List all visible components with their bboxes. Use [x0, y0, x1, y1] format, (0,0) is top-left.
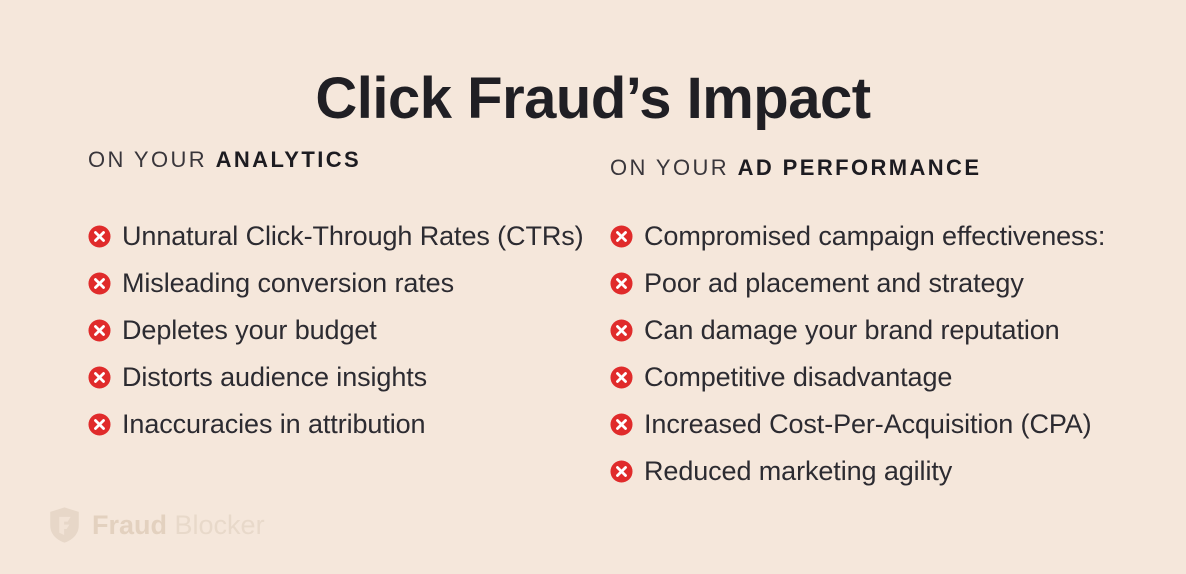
x-circle-icon	[610, 413, 633, 436]
list-item-label: Inaccuracies in attribution	[122, 411, 425, 438]
list-item: Misleading conversion rates	[88, 260, 584, 307]
brand-name-primary: Fraud	[92, 510, 167, 540]
list-item-label: Can damage your brand reputation	[644, 317, 1060, 344]
list-item: Depletes your budget	[88, 307, 584, 354]
page-title: Click Fraud’s Impact	[0, 66, 1186, 133]
impact-columns: ON YOUR ANALYTICS Unnatural Click-Throug…	[0, 143, 1186, 503]
impact-list-analytics: Unnatural Click-Through Rates (CTRs) Mis…	[88, 213, 584, 448]
list-item: Compromised campaign effectiveness:	[610, 213, 1105, 260]
x-circle-icon	[610, 319, 633, 342]
slide-canvas: Click Fraud’s Impact ON YOUR ANALYTICS U…	[0, 0, 1186, 574]
list-item-label: Poor ad placement and strategy	[644, 270, 1024, 297]
x-circle-icon	[88, 272, 111, 295]
column-heading-prefix: ON YOUR	[88, 147, 207, 172]
brand-watermark: Fraud Blocker	[48, 506, 265, 544]
list-item: Reduced marketing agility	[610, 448, 1105, 495]
x-circle-icon	[610, 272, 633, 295]
list-item-label: Reduced marketing agility	[644, 458, 952, 485]
x-circle-icon	[610, 366, 633, 389]
list-item: Unnatural Click-Through Rates (CTRs)	[88, 213, 584, 260]
shield-f-logo-icon	[48, 506, 81, 544]
list-item: Inaccuracies in attribution	[88, 401, 584, 448]
list-item-label: Increased Cost-Per-Acquisition (CPA)	[644, 411, 1092, 438]
x-circle-icon	[610, 225, 633, 248]
x-circle-icon	[610, 460, 633, 483]
list-item: Poor ad placement and strategy	[610, 260, 1105, 307]
column-heading-prefix: ON YOUR	[610, 155, 729, 180]
list-item: Increased Cost-Per-Acquisition (CPA)	[610, 401, 1105, 448]
list-item-label: Unnatural Click-Through Rates (CTRs)	[122, 223, 584, 250]
list-item: Distorts audience insights	[88, 354, 584, 401]
brand-name-secondary: Blocker	[175, 510, 265, 540]
x-circle-icon	[88, 413, 111, 436]
list-item-label: Distorts audience insights	[122, 364, 427, 391]
x-circle-icon	[88, 225, 111, 248]
brand-wordmark: Fraud Blocker	[92, 512, 265, 539]
column-ad-performance: ON YOUR AD PERFORMANCE Compromised campa…	[610, 143, 1105, 495]
list-item: Competitive disadvantage	[610, 354, 1105, 401]
impact-list-ad-performance: Compromised campaign effectiveness: Poor…	[610, 213, 1105, 495]
x-circle-icon	[88, 366, 111, 389]
column-analytics: ON YOUR ANALYTICS Unnatural Click-Throug…	[88, 143, 584, 448]
list-item-label: Competitive disadvantage	[644, 364, 952, 391]
column-heading-ad-performance: ON YOUR AD PERFORMANCE	[610, 157, 1105, 179]
list-item-label: Misleading conversion rates	[122, 270, 454, 297]
list-item-label: Depletes your budget	[122, 317, 377, 344]
column-heading-subject: ANALYTICS	[216, 147, 361, 172]
column-heading-subject: AD PERFORMANCE	[738, 155, 982, 180]
list-item: Can damage your brand reputation	[610, 307, 1105, 354]
list-item-label: Compromised campaign effectiveness:	[644, 223, 1105, 250]
x-circle-icon	[88, 319, 111, 342]
column-heading-analytics: ON YOUR ANALYTICS	[88, 149, 584, 171]
